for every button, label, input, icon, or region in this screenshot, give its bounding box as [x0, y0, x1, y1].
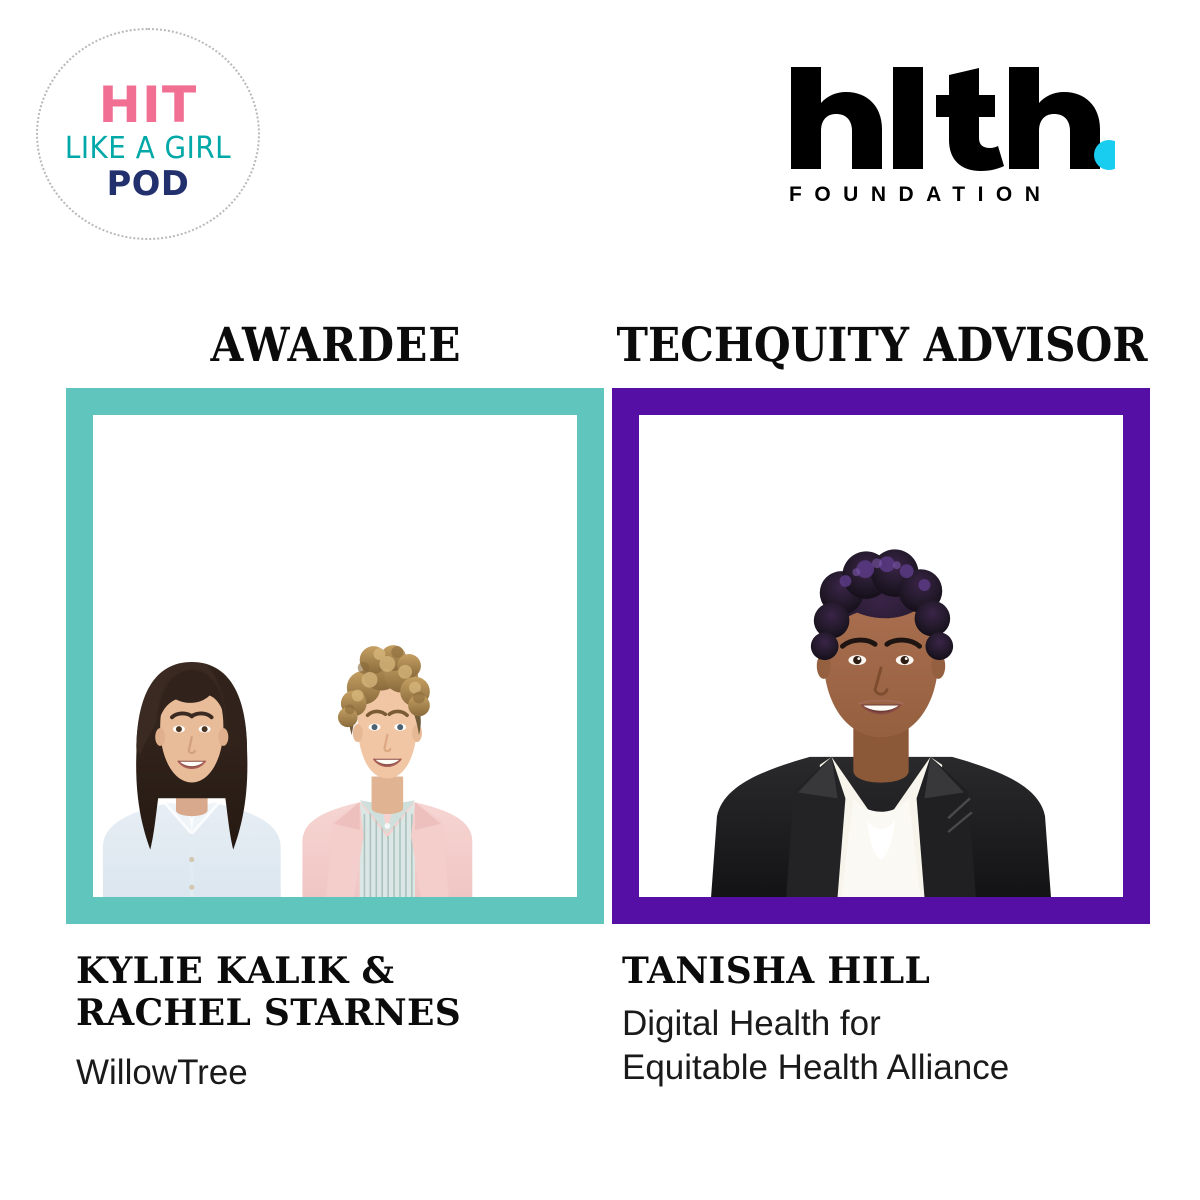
- hlth-foundation-logo: FOUNDATION: [785, 65, 1115, 220]
- photo-inner-awardee: [93, 415, 577, 897]
- advisor-organization-line-2: Equitable Health Alliance: [622, 1046, 1182, 1090]
- podcast-logo-text: HIT LIKE A GIRL POD: [36, 80, 260, 201]
- podcast-logo-line-1: HIT: [23, 80, 274, 130]
- caption-techquity-advisor: TANISHA HILL Digital Health for Equitabl…: [622, 950, 1182, 1090]
- hlth-wordmark-icon: [785, 65, 1115, 177]
- advisor-name: TANISHA HILL: [622, 950, 1182, 992]
- photo-inner-techquity-advisor: [639, 415, 1123, 897]
- column-heading-techquity-advisor: TECHQUITY ADVISOR: [612, 318, 1152, 373]
- column-heading-awardee: AWARDEE: [66, 318, 606, 373]
- portrait-two-women-image: [93, 550, 577, 897]
- hit-like-a-girl-pod-logo: HIT LIKE A GIRL POD: [36, 28, 266, 246]
- awardee-organization-line-1: WillowTree: [76, 1051, 596, 1095]
- advisor-name-line-1: TANISHA HILL: [622, 950, 1182, 992]
- photo-frame-awardee: [66, 388, 604, 924]
- podcast-logo-line-3: POD: [25, 167, 271, 201]
- advisor-organization-line-1: Digital Health for: [622, 1002, 1182, 1046]
- poster-canvas: HIT LIKE A GIRL POD FOUNDATION AWARDEE T…: [0, 0, 1200, 1200]
- awardee-name: KYLIE KALIK & RACHEL STARNES: [76, 950, 596, 1035]
- awardee-name-line-2: RACHEL STARNES: [76, 992, 596, 1034]
- hlth-foundation-subtitle: FOUNDATION: [789, 183, 1111, 207]
- advisor-organization: Digital Health for Equitable Health Alli…: [622, 1002, 1182, 1090]
- podcast-logo-line-2: LIKE A GIRL: [33, 134, 264, 164]
- photo-frame-techquity-advisor: [612, 388, 1150, 924]
- portrait-tanisha-hill-image: [639, 502, 1123, 897]
- awardee-organization: WillowTree: [76, 1051, 596, 1095]
- caption-awardee: KYLIE KALIK & RACHEL STARNES WillowTree: [76, 950, 596, 1095]
- awardee-name-line-1: KYLIE KALIK &: [76, 950, 596, 992]
